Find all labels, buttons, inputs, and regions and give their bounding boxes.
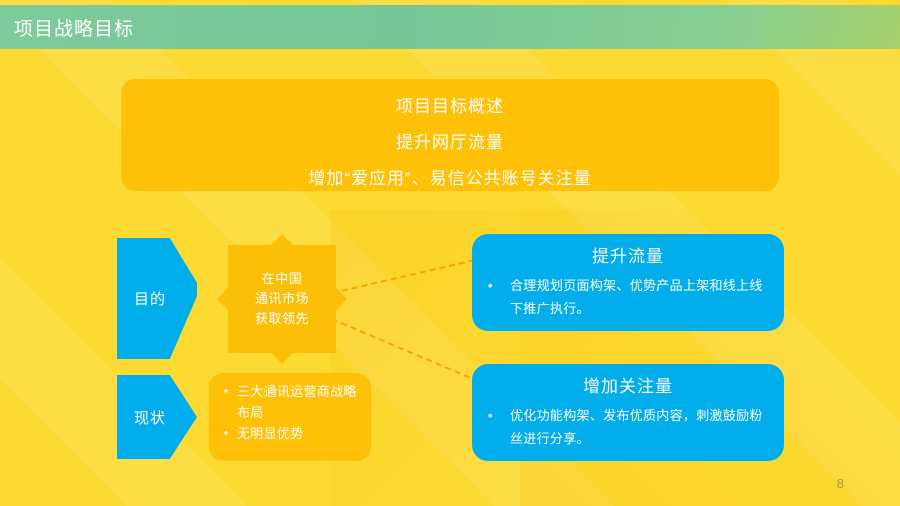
star-line-1: 在中国 <box>262 269 303 289</box>
card-title: 提升流量 <box>488 244 768 270</box>
chevron-goal: 目的 <box>117 238 197 359</box>
bullet-icon: • <box>215 423 237 444</box>
summary-line-1: 项目目标概述 <box>139 89 761 125</box>
summary-line-2: 提升网厅流量 <box>139 125 761 161</box>
content-card-followers: 增加关注量 • 优化功能构架、发布优质内容，刺激鼓励粉丝进行分享。 <box>472 364 784 461</box>
star-burst: 在中国 通讯市场 获取领先 <box>214 243 350 355</box>
card-text: 合理规划页面构架、优势产品上架和线上线下推广执行。 <box>510 274 768 320</box>
summary-card: 项目目标概述 提升网厅流量 增加“爱应用”、易信公共账号关注量 <box>121 79 779 191</box>
status-item-text: 三大通讯运营商战略布局 <box>237 381 365 423</box>
slide-canvas: 项目战略目标 项目目标概述 提升网厅流量 增加“爱应用”、易信公共账号关注量 目… <box>0 0 900 506</box>
card-body: • 合理规划页面构架、优势产品上架和线上线下推广执行。 <box>488 274 768 320</box>
bullet-icon: • <box>215 381 237 402</box>
card-body: • 优化功能构架、发布优质内容，刺激鼓励粉丝进行分享。 <box>488 404 768 450</box>
star-line-3: 获取领先 <box>255 309 309 329</box>
status-item-text: 无明显优势 <box>237 423 365 444</box>
bullet-icon: • <box>488 274 510 297</box>
header-diagonal-accent <box>742 5 900 49</box>
status-item: • 三大通讯运营商战略布局 <box>215 381 365 423</box>
content-card-traffic: 提升流量 • 合理规划页面构架、优势产品上架和线上线下推广执行。 <box>472 234 784 331</box>
summary-line-3: 增加“爱应用”、易信公共账号关注量 <box>139 161 761 197</box>
chevron-status: 现状 <box>117 375 197 459</box>
star-line-2: 通讯市场 <box>255 289 309 309</box>
page-title: 项目战略目标 <box>14 5 134 49</box>
connector-star-to-top-card <box>332 259 475 294</box>
card-text: 优化功能构架、发布优质内容，刺激鼓励粉丝进行分享。 <box>510 404 768 450</box>
star-text: 在中国 通讯市场 获取领先 <box>214 243 350 355</box>
card-title: 增加关注量 <box>488 374 768 400</box>
status-item: • 无明显优势 <box>215 423 365 444</box>
connector-star-to-bottom-card <box>331 318 470 378</box>
header-band <box>0 5 900 49</box>
page-number: 8 <box>837 476 844 491</box>
chevron-status-label: 现状 <box>134 407 166 428</box>
bullet-icon: • <box>488 404 510 427</box>
chevron-goal-label: 目的 <box>134 288 166 309</box>
status-card: • 三大通讯运营商战略布局 • 无明显优势 <box>209 373 371 461</box>
